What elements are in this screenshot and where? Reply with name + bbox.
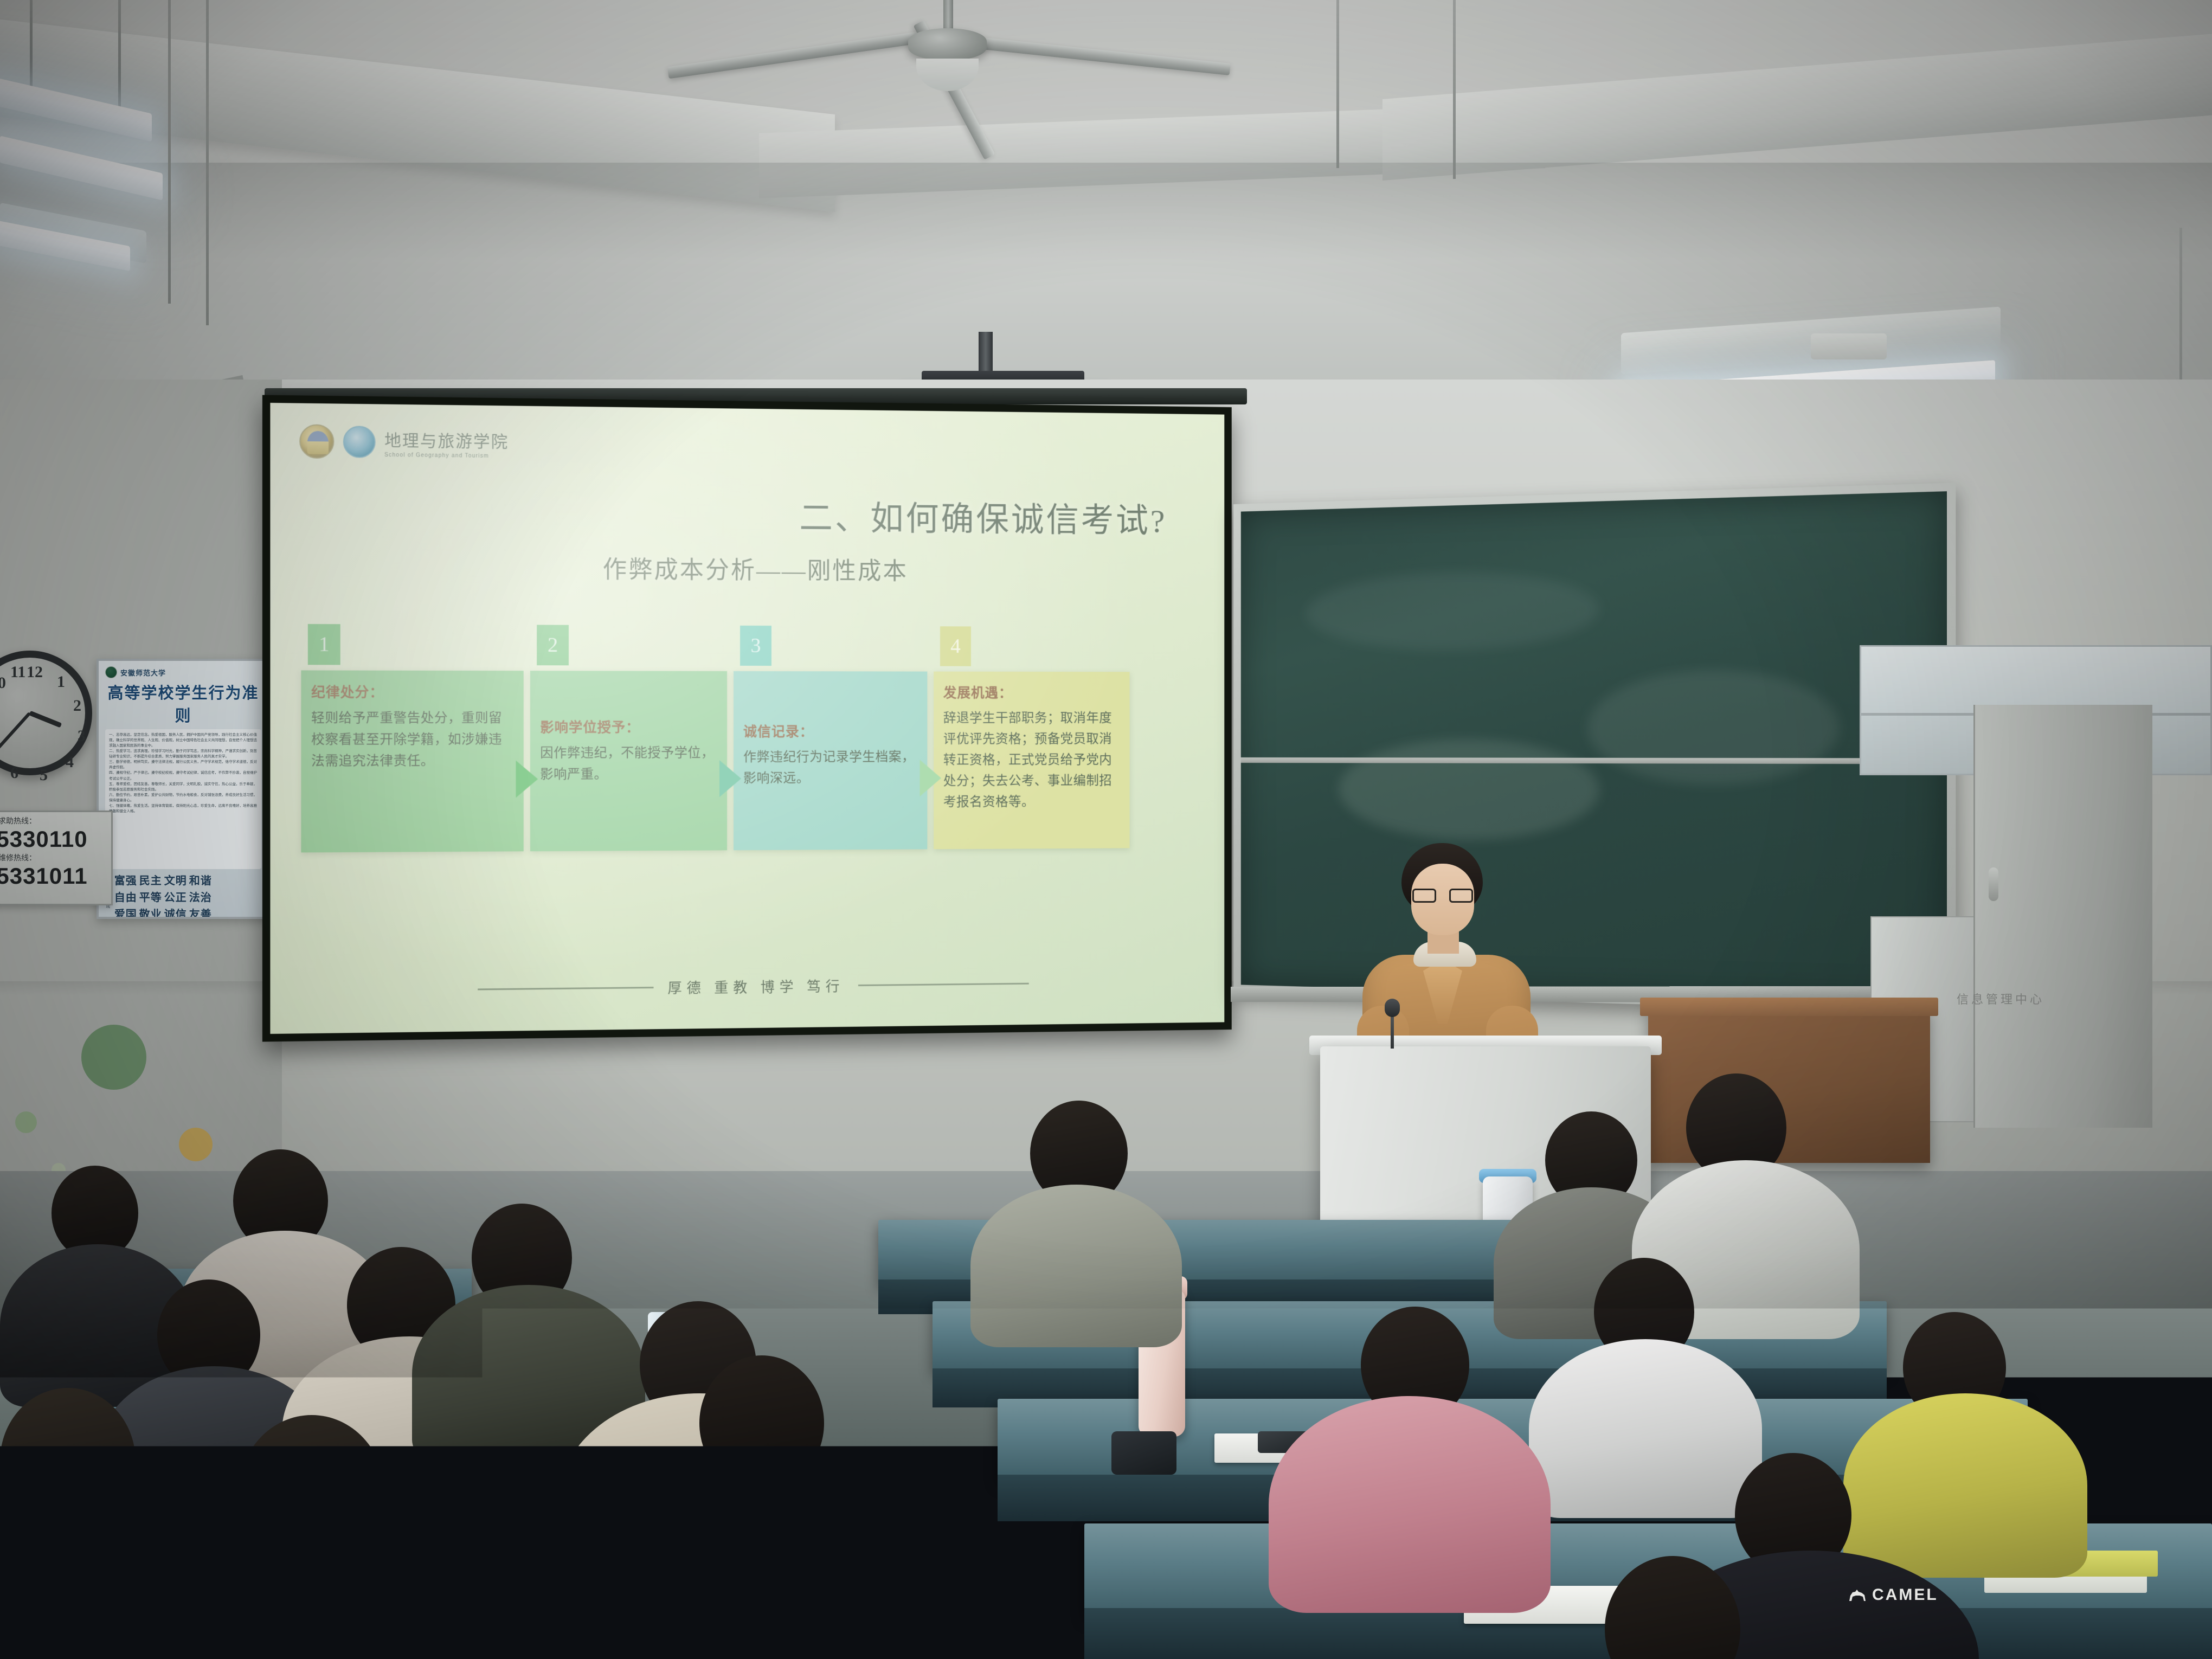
clock-number-3: 3 xyxy=(78,727,86,745)
flow-step-1: 1 纪律处分： 轻则给予严重警告处分，重则留校察看甚至开除学籍，如涉嫌违法需追究… xyxy=(301,624,523,852)
jacket-brand-mark: CAMEL xyxy=(1846,1586,1938,1604)
step-body-2: 因作弊违纪，不能授予学位，影响严重。 xyxy=(540,743,717,786)
lamp-hanger-left-2 xyxy=(118,0,121,108)
wall-sticker-circle-green xyxy=(81,1025,146,1090)
ceiling-shadow xyxy=(0,163,2212,260)
core-values-grid: 富强 民主 文明 和谐 自由 平等 公正 法治 爱国 敬业 诚信 友善 xyxy=(114,872,212,919)
core-value: 诚信 xyxy=(164,905,187,919)
clock-number-11: 11 xyxy=(10,663,25,681)
student-body xyxy=(970,1185,1182,1347)
core-value: 文明 xyxy=(164,872,187,888)
university-seal-icon xyxy=(299,424,334,459)
poster-line: 四、遵规守纪，严于律己。遵守校纪校规，遵守考试纪律，诚信应考，不作弊不抄袭，自觉… xyxy=(109,770,258,781)
chalk-smudge-3 xyxy=(1306,569,1599,652)
core-value: 法治 xyxy=(189,889,212,904)
classroom-door-right[interactable] xyxy=(1973,705,2152,1128)
clock-number-1: 1 xyxy=(57,673,65,691)
step-heading-1: 纪律处分： xyxy=(311,681,513,702)
core-value: 富强 xyxy=(114,872,137,888)
slide-logo-group: 地理与旅游学院 School of Geography and Tourism xyxy=(299,424,509,460)
slide-flow-diagram: 1 纪律处分： 轻则给予严重警告处分，重则留校察看甚至开除学籍，如涉嫌违法需追究… xyxy=(301,624,1195,852)
door-handle[interactable] xyxy=(1989,867,1998,901)
footer-rule-right xyxy=(858,983,1029,986)
flow-arrow-2 xyxy=(719,760,741,797)
lamp-hanger-left-1 xyxy=(30,0,33,87)
poster-line: 五、尊师爱校，团结友善。尊敬师长，关爱同学，文明礼貌，诚实守信，热心公益，乐于奉… xyxy=(109,782,258,793)
core-value: 平等 xyxy=(139,889,162,904)
microphone-icon xyxy=(1385,999,1400,1017)
step-heading-3: 诚信记录： xyxy=(743,721,918,741)
poster-line: 一、志存高远，坚定信念。热爱祖国，服务人民，拥护中国共产党领导，践行社会主义核心… xyxy=(109,732,258,749)
info-center-sign: 信息管理中心 xyxy=(1930,987,2071,1011)
lamp-hanger-left-4 xyxy=(206,0,209,325)
clock-hour-hand xyxy=(29,711,62,728)
step-card-4: 发展机遇： 辞退学生干部职务；取消年度评优评先资格；预备党员取消转正资格，正式党… xyxy=(934,672,1129,850)
phone-number-2: 55331011 xyxy=(0,863,107,889)
blackboard-divider xyxy=(1241,757,1947,764)
phone-label-2: 校园维修热线： xyxy=(0,852,107,863)
student-body xyxy=(1843,1393,2087,1578)
projection-screen: 地理与旅游学院 School of Geography and Tourism … xyxy=(262,395,1232,1042)
poster-header: 安徽师范大学 xyxy=(105,666,261,678)
step-body-3: 作弊违纪行为记录学生档案，影响深远。 xyxy=(743,747,918,789)
step-card-1: 纪律处分： 轻则给予严重警告处分，重则留校察看甚至开除学籍，如涉嫌违法需追究法律… xyxy=(301,670,523,852)
poster-line: 二、热爱学习，追求真理。珍惜学习时光，勤于问学笃志，崇尚科学精神，严谨求实创新，… xyxy=(109,749,258,760)
core-value: 和谐 xyxy=(189,872,212,888)
clock-minute-hand xyxy=(0,712,31,749)
lamp-hanger-left-3 xyxy=(168,0,171,304)
slide-subtitle: 作弊成本分析——刚性成本 xyxy=(270,548,1224,588)
slide-school-name-cn: 地理与旅游学院 xyxy=(384,427,509,452)
step-heading-4: 发展机遇： xyxy=(943,682,1120,702)
university-seal-icon xyxy=(105,666,117,678)
wall-sticker-circle-yellow xyxy=(179,1128,213,1161)
slide-footer: 厚德 重教 博学 笃行 xyxy=(270,972,1224,1002)
step-card-2: 影响学位授予： 因作弊违纪，不能授予学位，影响严重。 xyxy=(530,671,727,851)
step-heading-2: 影响学位授予： xyxy=(540,717,717,736)
clock-number-4: 4 xyxy=(66,753,74,771)
fan-downrod xyxy=(943,0,953,33)
emergency-phone-sign: 报警求助热线： 55330110 校园维修热线： 55331011 xyxy=(0,811,113,905)
classroom-scene: 12 1 2 3 4 5 6 7 8 9 10 11 安徽师范大学 高等学校学生… xyxy=(0,0,2212,1659)
lamp-cap-right xyxy=(1811,333,1887,359)
step-badge-2: 2 xyxy=(537,625,569,666)
footer-rule-left xyxy=(478,987,653,990)
wooden-side-table-top xyxy=(1640,998,1938,1016)
poster-body: 一、志存高远，坚定信念。热爱祖国，服务人民，拥护中国共产党领导，践行社会主义核心… xyxy=(105,729,261,869)
phone-label-1: 报警求助热线： xyxy=(0,815,107,826)
slide-school-name-en: School of Geography and Tourism xyxy=(384,452,509,459)
step-body-4: 辞退学生干部职务；取消年度评优评先资格；预备党员取消转正资格，正式党员给予党内处… xyxy=(943,708,1120,813)
slide-footer-motto: 厚德 重教 博学 笃行 xyxy=(667,975,844,997)
bag-on-desk xyxy=(1111,1431,1176,1475)
glasses-lens-right xyxy=(1449,889,1473,903)
clock-number-10: 10 xyxy=(0,674,6,692)
core-value: 民主 xyxy=(139,872,162,888)
student-body xyxy=(1529,1339,1762,1518)
core-value: 公正 xyxy=(164,889,187,904)
glasses-icon xyxy=(1412,889,1473,903)
step-body-1: 轻则给予严重警告处分，重则留校察看甚至开除学籍，如涉嫌违法需追究法律责任。 xyxy=(311,708,513,773)
student-body xyxy=(1269,1396,1551,1613)
jacket-brand-label: CAMEL xyxy=(1872,1586,1938,1604)
slide-school-name-block: 地理与旅游学院 School of Geography and Tourism xyxy=(384,427,509,459)
chalk-smudge-2 xyxy=(1587,669,1840,786)
flow-step-4: 4 发展机遇： 辞退学生干部职务；取消年度评优评先资格；预备党员取消转正资格，正… xyxy=(934,626,1129,849)
chalk-smudge-1 xyxy=(1339,739,1599,841)
flow-arrow-3 xyxy=(920,760,941,796)
step-badge-3: 3 xyxy=(740,626,771,666)
camel-icon xyxy=(1846,1587,1869,1603)
fan-motor xyxy=(908,28,987,61)
glasses-lens-left xyxy=(1412,889,1436,903)
step-badge-4: 4 xyxy=(940,626,971,666)
poster-values-wrap: 社会主义核心价值观 富强 民主 文明 和谐 自由 平等 公正 法治 爱国 敬业 … xyxy=(105,869,261,919)
flow-step-3: 3 诚信记录： 作弊违纪行为记录学生档案，影响深远。 xyxy=(734,626,927,850)
school-seal-icon xyxy=(343,426,376,458)
slide-title: 二、如何确保诚信考试? xyxy=(270,486,1167,542)
core-value: 自由 xyxy=(114,889,137,904)
step-badge-1: 1 xyxy=(308,624,340,665)
clock-number-5: 5 xyxy=(40,766,48,785)
presentation-slide: 地理与旅游学院 School of Geography and Tourism … xyxy=(270,403,1224,1034)
student-body xyxy=(613,1458,927,1659)
lamp-hanger-right-1 xyxy=(1336,0,1339,168)
poster-title: 高等学校学生行为准则 xyxy=(105,680,261,726)
core-value: 爱国 xyxy=(114,905,137,919)
student-code-of-conduct-poster: 安徽师范大学 高等学校学生行为准则 一、志存高远，坚定信念。热爱祖国，服务人民，… xyxy=(97,659,270,919)
step-card-3: 诚信记录： 作弊违纪行为记录学生档案，影响深远。 xyxy=(734,671,927,850)
lamp-hanger-right-2 xyxy=(1453,0,1456,179)
poster-line: 三、勤学修德，明辨笃实。遵守法律法规，履行公民义务，严守学术规范，恪守学术道德，… xyxy=(109,760,258,770)
poster-line: 六、勤俭节约，艰苦朴素。爱护公共财物，节约水电粮食，反对铺张浪费，养成良好生活习… xyxy=(109,793,258,803)
core-value: 敬业 xyxy=(139,905,162,919)
poster-university-name: 安徽师范大学 xyxy=(120,667,166,678)
poster-line: 七、强健体魄，热爱生活。坚持体育锻炼，保持阳光心态，珍爱生命，远离不良嗜好，培养… xyxy=(109,803,258,814)
flow-step-2: 2 影响学位授予： 因作弊违纪，不能授予学位，影响严重。 xyxy=(530,625,727,851)
flow-arrow-1 xyxy=(516,761,538,798)
phone-number-1: 55330110 xyxy=(0,826,107,852)
core-value: 友善 xyxy=(189,905,212,919)
clock-number-6: 6 xyxy=(10,764,18,782)
wall-sticker-dot-1 xyxy=(15,1111,37,1133)
clock-number-2: 2 xyxy=(73,697,81,715)
clock-number-12: 12 xyxy=(27,663,43,681)
